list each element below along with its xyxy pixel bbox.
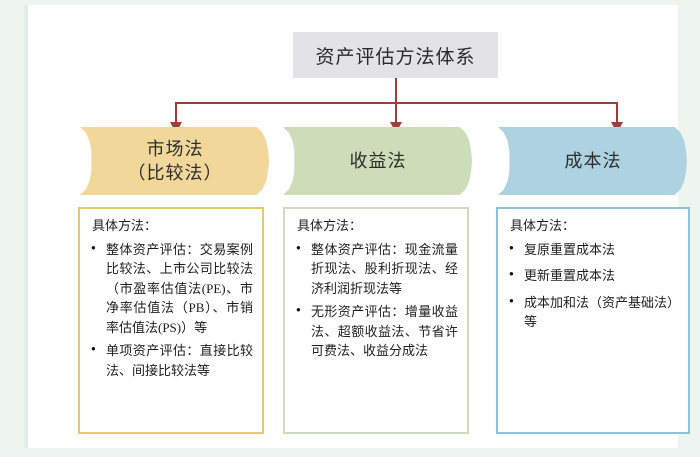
- list-item: 单项资产评估：直接比较法、间接比较法等: [90, 341, 253, 380]
- banner-income-line1: 收益法: [350, 151, 407, 171]
- diagram-canvas: 资产评估方法体系 市场法 （比较法） 收益法 成本法: [0, 0, 700, 457]
- banner-cost-label: 成本法: [565, 149, 622, 173]
- banner-income-approach: 收益法: [283, 127, 473, 195]
- detail-heading-cost: 具体方法：: [510, 218, 679, 235]
- page-title: 资产评估方法体系: [315, 42, 475, 69]
- list-item: 整体资产评估：交易案例比较法、上市公司比较法（市盈率估值法(PE)、市净率估值法…: [90, 240, 253, 338]
- diagram-title-box: 资产评估方法体系: [293, 32, 498, 78]
- connector-drop-market: [175, 104, 177, 123]
- detail-box-income: 具体方法： 整体资产评估：现金流量折现法、股利折现法、经济利润折现法等 无形资产…: [283, 207, 469, 434]
- banner-cost-line1: 成本法: [565, 151, 622, 171]
- list-item: 整体资产评估：现金流量折现法、股利折现法、经济利润折现法等: [295, 240, 458, 299]
- detail-list-market: 整体资产评估：交易案例比较法、上市公司比较法（市盈率估值法(PE)、市净率估值法…: [90, 240, 253, 381]
- banner-market-label: 市场法 （比较法）: [128, 137, 223, 186]
- connector-drop-cost: [616, 104, 618, 123]
- diagram-page: 资产评估方法体系 市场法 （比较法） 收益法 成本法: [28, 5, 678, 448]
- banner-income-label: 收益法: [350, 149, 407, 173]
- connector-drop-income: [395, 104, 397, 123]
- detail-box-market: 具体方法： 整体资产评估：交易案例比较法、上市公司比较法（市盈率估值法(PE)、…: [78, 207, 264, 434]
- detail-box-cost: 具体方法： 复原重置成本法 更新重置成本法 成本加和法（资产基础法）等: [496, 207, 690, 434]
- list-item: 无形资产评估：增量收益法、超额收益法、节省许可费法、收益分成法: [295, 302, 458, 361]
- list-item: 成本加和法（资产基础法）等: [508, 293, 679, 332]
- connector-vertical-stem: [395, 78, 397, 104]
- detail-list-income: 整体资产评估：现金流量折现法、股利折现法、经济利润折现法等 无形资产评估：增量收…: [295, 240, 458, 361]
- list-item: 更新重置成本法: [508, 266, 679, 286]
- banner-market-line1: 市场法: [147, 139, 204, 159]
- detail-heading-income: 具体方法：: [297, 218, 458, 235]
- banner-market-line2: （比较法）: [128, 161, 223, 185]
- banner-cost-approach: 成本法: [498, 127, 688, 195]
- banner-market-approach: 市场法 （比较法）: [80, 127, 270, 195]
- detail-list-cost: 复原重置成本法 更新重置成本法 成本加和法（资产基础法）等: [508, 240, 679, 332]
- list-item: 复原重置成本法: [508, 240, 679, 260]
- detail-heading-market: 具体方法：: [92, 218, 253, 235]
